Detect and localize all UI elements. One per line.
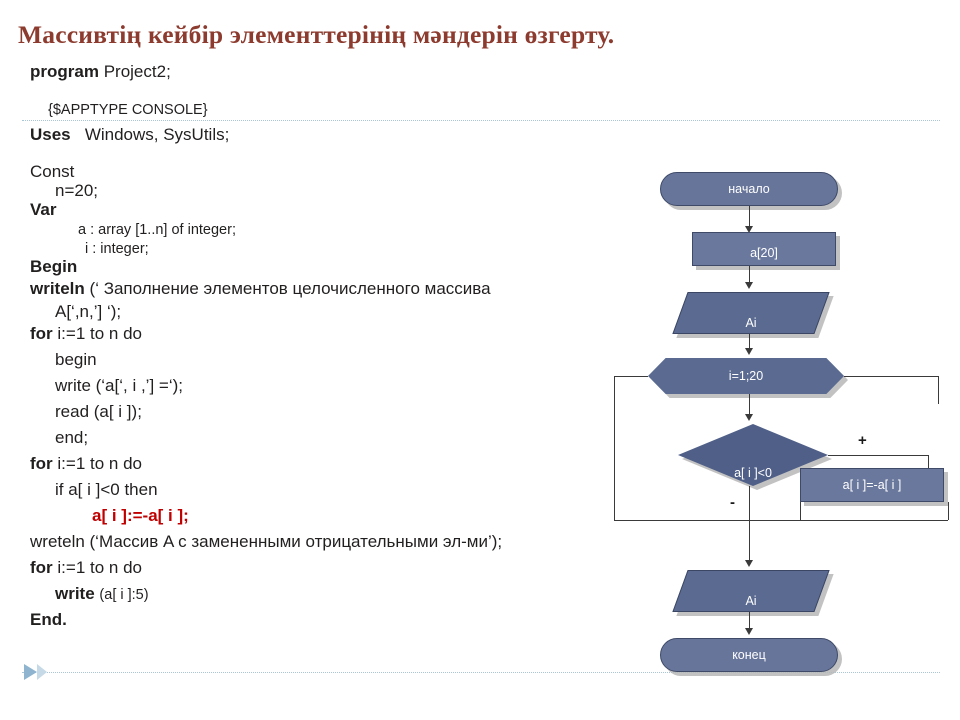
connector-decision-no-down: [749, 486, 750, 520]
code-line-read: read (a[ i ]);: [30, 399, 690, 425]
code-line-begin-inner: begin: [30, 347, 690, 373]
for-2-arguments: i:=1 to n do: [57, 454, 142, 473]
connector-decision-yes: [828, 455, 928, 456]
flow-node-end: конец: [660, 638, 838, 672]
writeln-arguments-cont: A[‘,n,’] ‘);: [55, 302, 121, 321]
code-line-begin: Begin: [30, 257, 690, 276]
connector-feedback-right-vertical: [938, 376, 939, 404]
writeln-arguments: (‘ Заполнение элементов целочисленного м…: [90, 279, 491, 298]
code-line-write-final: write (a[ i ]:5): [30, 581, 690, 607]
keyword-const: Const: [30, 162, 74, 181]
flow-node-input-label: Ai: [745, 316, 756, 330]
highlighted-assignment: a[ i ]:=-a[ i ];: [92, 506, 189, 525]
code-line-end: End.: [30, 607, 690, 633]
wreteln-call: wreteln (‘Массив A с замененными отрицат…: [30, 532, 502, 551]
arrow-declare-input: [745, 282, 753, 289]
keyword-end-inner: end;: [55, 428, 88, 447]
arrow-merge-output: [745, 560, 753, 567]
keyword-write-final: write: [55, 584, 95, 603]
flow-node-input-label-wrap: Ai: [680, 292, 822, 334]
flow-node-start-label: начало: [728, 182, 769, 196]
decl-i: i : integer;: [85, 241, 149, 257]
flow-node-loop: i=1;20: [648, 358, 844, 394]
flow-node-start: начало: [660, 172, 838, 206]
code-listing: program Project2; {$APPTYPE CONSOLE} Use…: [30, 62, 690, 633]
connector-feedback-left-bottom: [614, 520, 800, 521]
code-line-var: Var: [30, 200, 690, 219]
code-line-const: Const: [30, 162, 690, 181]
uses-arguments: Windows, SysUtils;: [85, 125, 230, 144]
keyword-for-2: for: [30, 454, 53, 473]
keyword-for-3: for: [30, 558, 53, 577]
code-line-assign: a[ i ]:=-a[ i ];: [30, 503, 690, 529]
code-line-for3: for i:=1 to n do: [30, 555, 690, 581]
slide-canvas: Массивтің кейбір элементтерінің мәндерін…: [0, 0, 960, 720]
keyword-writeln: writeln: [30, 279, 85, 298]
code-line-writeln: writeln (‘ Заполнение элементов целочисл…: [30, 276, 690, 302]
branch-label-no: -: [730, 494, 735, 511]
code-line-apptype: {$APPTYPE CONSOLE}: [30, 99, 690, 118]
connector-feedback-left-top: [614, 376, 648, 377]
code-line-writeln-cont: A[‘,n,’] ‘);: [30, 302, 690, 321]
bullet-triangle-secondary-icon: [37, 664, 47, 680]
code-line-if: if a[ i ]<0 then: [30, 477, 690, 503]
flow-node-output-label-wrap: Ai: [680, 570, 822, 612]
code-line-wreteln: wreteln (‘Массив A с замененными отрицат…: [30, 529, 690, 555]
flow-node-loop-label: i=1;20: [729, 369, 763, 383]
spacer: [30, 118, 690, 125]
if-statement: if a[ i ]<0 then: [55, 480, 158, 499]
keyword-end-final: End.: [30, 610, 67, 629]
spacer: [30, 144, 690, 155]
flow-node-declare: a[20]: [692, 232, 836, 266]
code-line-write: write (‘a[‘, i ,’] =‘);: [30, 373, 690, 399]
directive-apptype: {$APPTYPE CONSOLE}: [48, 102, 208, 118]
write-final-arguments: (a[ i ]:5): [99, 587, 148, 603]
code-line-program: program Project2;: [30, 62, 690, 81]
code-line-end-inner: end;: [30, 425, 690, 451]
program-name: Project2;: [104, 62, 171, 81]
connector-feedback-left-vertical: [614, 376, 615, 520]
flow-node-loop-label-wrap: i=1;20: [648, 358, 844, 394]
code-line-for1: for i:=1 to n do: [30, 321, 690, 347]
arrow-input-loop: [745, 348, 753, 355]
for-3-arguments: i:=1 to n do: [57, 558, 142, 577]
keyword-var: Var: [30, 200, 56, 219]
read-call: read (a[ i ]);: [55, 402, 142, 421]
write-call: write (‘a[‘, i ,’] =‘);: [55, 376, 183, 395]
connector-assign-return-top: [800, 520, 948, 521]
connector-feedback-right-top: [844, 376, 938, 377]
connector-assign-return-left: [800, 502, 801, 520]
flow-node-end-label: конец: [732, 648, 766, 662]
keyword-begin: Begin: [30, 257, 77, 276]
keyword-program: program: [30, 62, 99, 81]
flowchart: начало a[20] Ai i=1;20: [600, 150, 952, 680]
connector-start-declare: [749, 206, 750, 228]
spacer: [30, 92, 690, 99]
code-line-n: n=20;: [30, 181, 690, 200]
for-1-arguments: i:=1 to n do: [57, 324, 142, 343]
code-line-i: i : integer;: [30, 238, 690, 257]
keyword-uses: Uses: [30, 125, 71, 144]
flow-node-decision-label: a[ i ]<0: [734, 466, 772, 480]
keyword-begin-inner: begin: [55, 350, 97, 369]
spacer: [30, 155, 690, 162]
flow-node-declare-label: a[20]: [750, 246, 778, 260]
branch-label-yes: +: [858, 432, 867, 449]
code-line-uses: Uses Windows, SysUtils;: [30, 125, 690, 144]
const-n: n=20;: [55, 181, 98, 200]
page-title: Массивтің кейбір элементтерінің мәндерін…: [18, 20, 942, 50]
flow-node-assign-label: a[ i ]=-a[ i ]: [843, 478, 902, 492]
arrow-output-end: [745, 628, 753, 635]
keyword-for-1: for: [30, 324, 53, 343]
connector-assign-return-right: [948, 502, 949, 520]
flow-node-assign: a[ i ]=-a[ i ]: [800, 468, 944, 502]
spacer: [30, 81, 690, 92]
arrow-loop-decision: [745, 414, 753, 421]
code-line-array: a : array [1..n] of integer;: [30, 219, 690, 238]
decl-array: a : array [1..n] of integer;: [78, 222, 236, 238]
code-line-for2: for i:=1 to n do: [30, 451, 690, 477]
flow-node-output-label: Ai: [745, 594, 756, 608]
bullet-triangle-icon: [24, 664, 37, 680]
connector-merge-output: [749, 520, 750, 564]
